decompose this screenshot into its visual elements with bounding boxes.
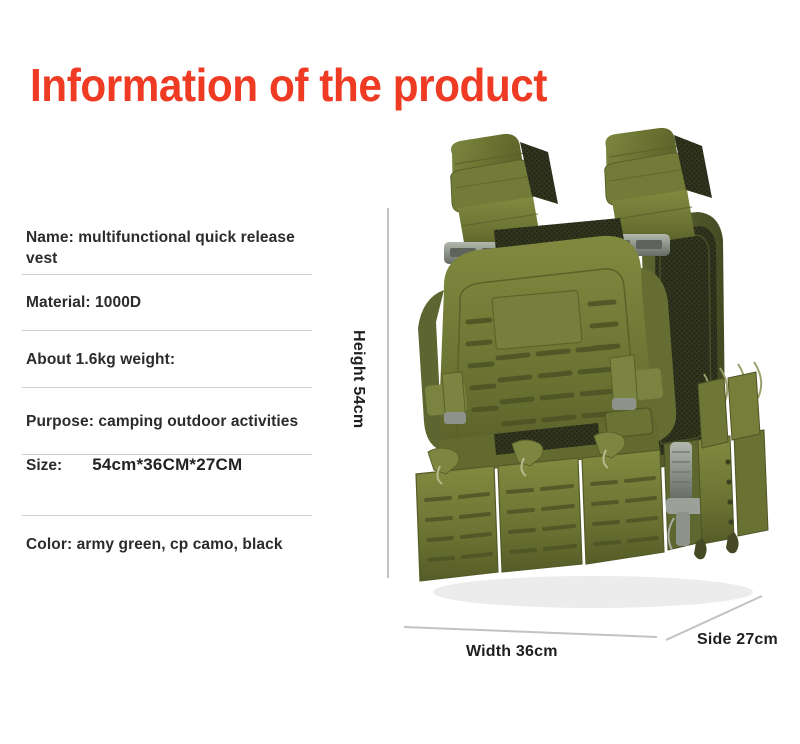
product-shadow bbox=[433, 576, 753, 608]
spec-row-name: Name: multifunctional quick release vest bbox=[22, 222, 312, 274]
spec-color-text: Color: army green, cp camo, black bbox=[26, 534, 283, 555]
spec-material-text: Material: 1000D bbox=[26, 292, 141, 313]
spec-row-material: Material: 1000D bbox=[22, 274, 312, 330]
spec-row-weight: About 1.6kg weight: bbox=[22, 330, 312, 387]
velcro-id-patch bbox=[492, 290, 582, 349]
spec-size-value: 54cm*36CM*27CM bbox=[92, 455, 242, 475]
side-dimension-label: Side 27cm bbox=[697, 631, 778, 649]
product-info-page: Information of the product Name: multifu… bbox=[0, 0, 800, 744]
spec-row-color: Color: army green, cp camo, black bbox=[22, 515, 312, 572]
specification-list: Name: multifunctional quick release vest… bbox=[22, 222, 312, 572]
spec-row-purpose: Purpose: camping outdoor activities bbox=[22, 387, 312, 454]
spec-purpose-text: Purpose: camping outdoor activities bbox=[26, 411, 298, 432]
spec-row-size: Size: 54cm*36CM*27CM bbox=[22, 454, 312, 515]
width-dimension-label: Width 36cm bbox=[466, 643, 558, 661]
spec-size-label: Size: bbox=[26, 457, 62, 475]
height-guide-line bbox=[387, 208, 389, 578]
magazine-pouch-group bbox=[416, 432, 664, 581]
left-strap-clip bbox=[444, 412, 466, 424]
product-image-tactical-vest bbox=[398, 122, 798, 632]
height-dimension-label: Height 54cm bbox=[349, 330, 367, 428]
spec-weight-text: About 1.6kg weight: bbox=[26, 349, 175, 370]
page-title: Information of the product bbox=[30, 60, 547, 110]
right-strap-clip bbox=[612, 398, 636, 410]
spec-name-text: Name: multifunctional quick release vest bbox=[26, 227, 312, 269]
